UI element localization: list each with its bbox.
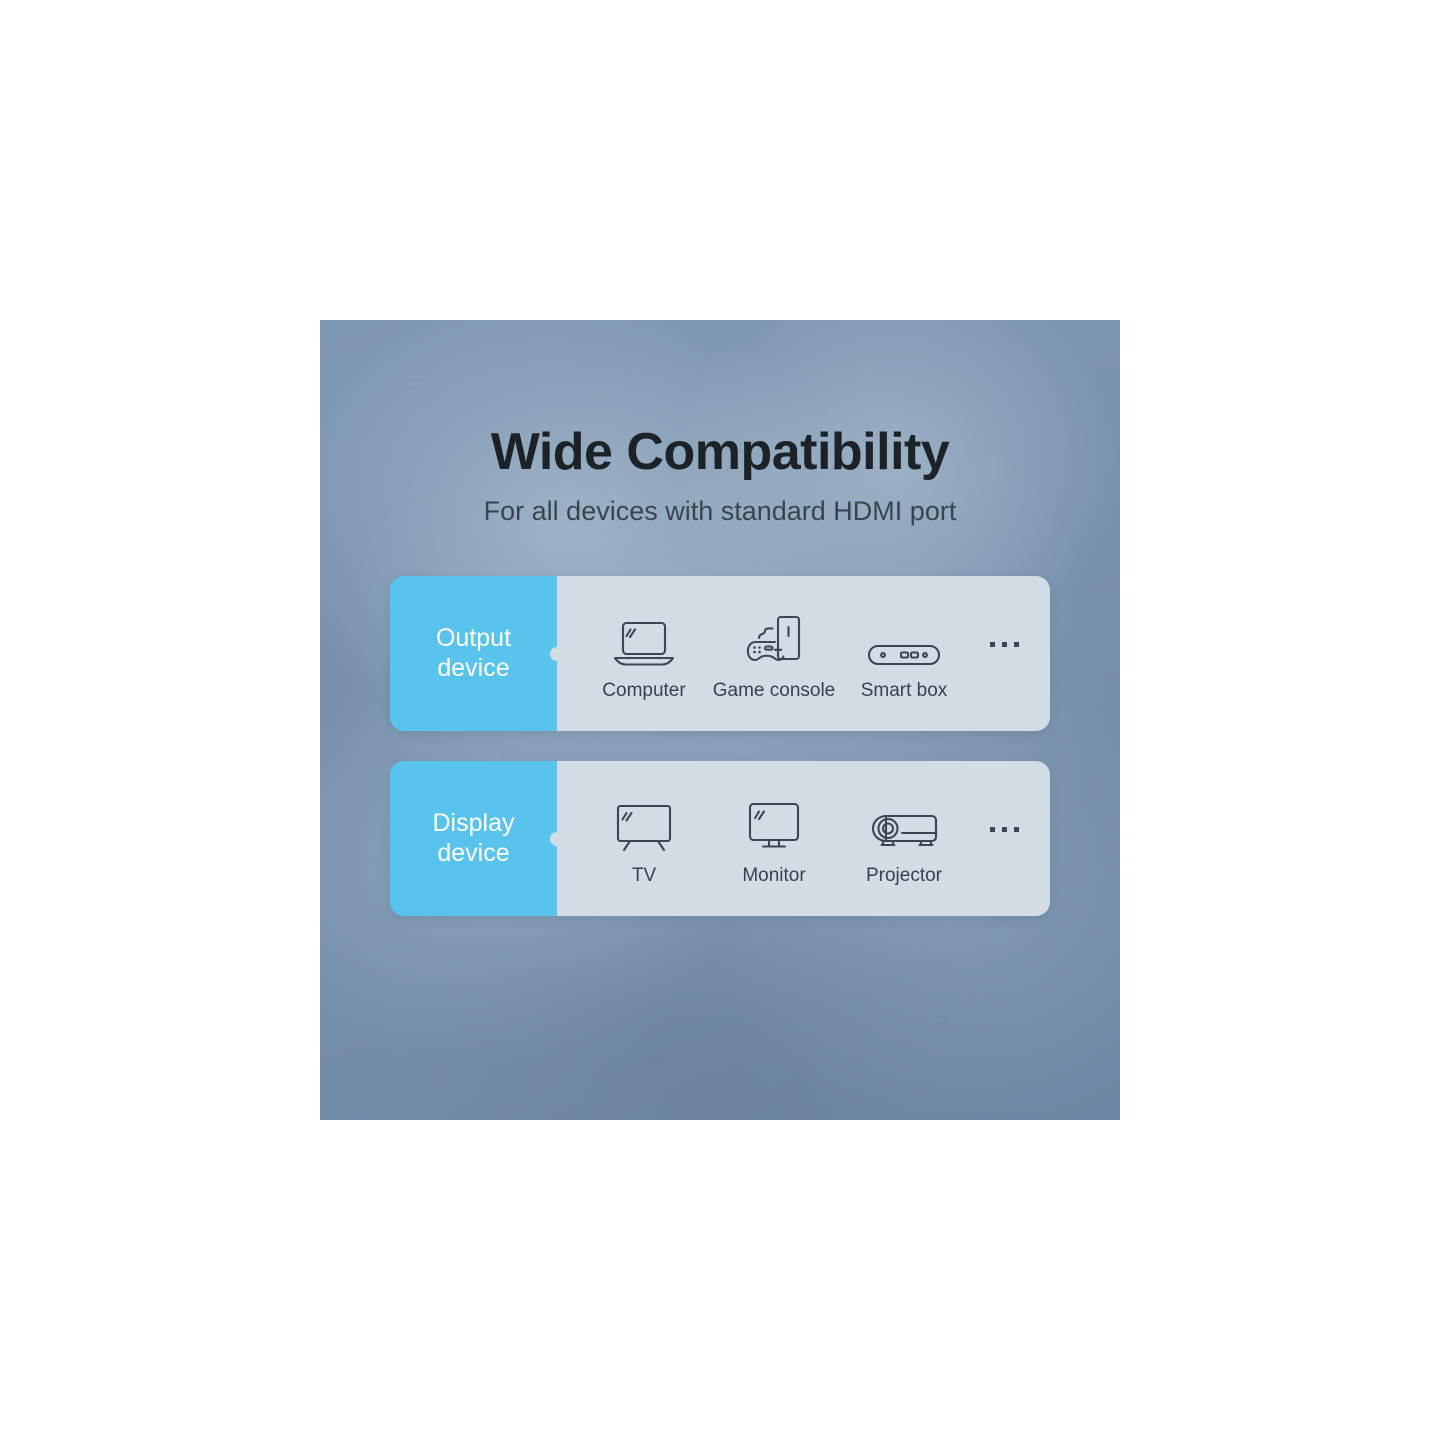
device-label: Projector bbox=[866, 865, 942, 887]
row-label-line1: Output bbox=[436, 624, 511, 654]
row-panel-output-device: Computer bbox=[557, 576, 1050, 731]
tv-icon bbox=[613, 791, 675, 853]
banner-headings: Wide Compatibility For all devices with … bbox=[320, 424, 1120, 528]
device-label: Monitor bbox=[742, 865, 805, 887]
device-item-game-console[interactable]: Game console bbox=[709, 606, 839, 702]
device-item-monitor[interactable]: Monitor bbox=[709, 791, 839, 887]
page-title: Wide Compatibility bbox=[320, 424, 1120, 481]
device-label: Game console bbox=[713, 680, 836, 702]
monitor-icon bbox=[747, 791, 801, 853]
device-label: Smart box bbox=[861, 680, 948, 702]
compatibility-rows: Output device Comput bbox=[390, 576, 1050, 916]
page-subtitle: For all devices with standard HDMI port bbox=[320, 495, 1120, 527]
row-panel-display-device: TV Monitor bbox=[557, 761, 1050, 916]
device-label: TV bbox=[632, 865, 656, 887]
device-label: Computer bbox=[602, 680, 685, 702]
device-item-computer[interactable]: Computer bbox=[579, 606, 709, 702]
row-notch bbox=[550, 647, 564, 661]
row-label-output-device: Output device bbox=[390, 576, 557, 731]
ellipsis-dot bbox=[1014, 827, 1019, 832]
more-devices-indicator-display[interactable] bbox=[969, 827, 1039, 832]
ellipsis-dot bbox=[1014, 642, 1019, 647]
device-item-tv[interactable]: TV bbox=[579, 791, 709, 887]
smart-box-icon bbox=[867, 606, 941, 668]
promo-banner: Wide Compatibility For all devices with … bbox=[320, 320, 1120, 1120]
ellipsis-dot bbox=[990, 642, 995, 647]
ellipsis-dot bbox=[1002, 642, 1007, 647]
row-label-line1: Display bbox=[433, 809, 515, 839]
row-output-device: Output device Comput bbox=[390, 576, 1050, 731]
row-label-text: Display device bbox=[433, 809, 515, 868]
ellipsis-dot bbox=[990, 827, 995, 832]
game-console-icon bbox=[745, 606, 803, 668]
row-label-display-device: Display device bbox=[390, 761, 557, 916]
device-item-projector[interactable]: Projector bbox=[839, 791, 969, 887]
row-label-line2: device bbox=[436, 654, 511, 684]
projector-icon bbox=[869, 791, 939, 853]
device-item-smart-box[interactable]: Smart box bbox=[839, 606, 969, 702]
row-label-text: Output device bbox=[436, 624, 511, 683]
row-label-line2: device bbox=[433, 839, 515, 869]
more-devices-indicator-output[interactable] bbox=[969, 642, 1039, 647]
laptop-icon bbox=[613, 606, 675, 668]
row-display-device: Display device bbox=[390, 761, 1050, 916]
ellipsis-dot bbox=[1002, 827, 1007, 832]
row-notch bbox=[550, 832, 564, 846]
